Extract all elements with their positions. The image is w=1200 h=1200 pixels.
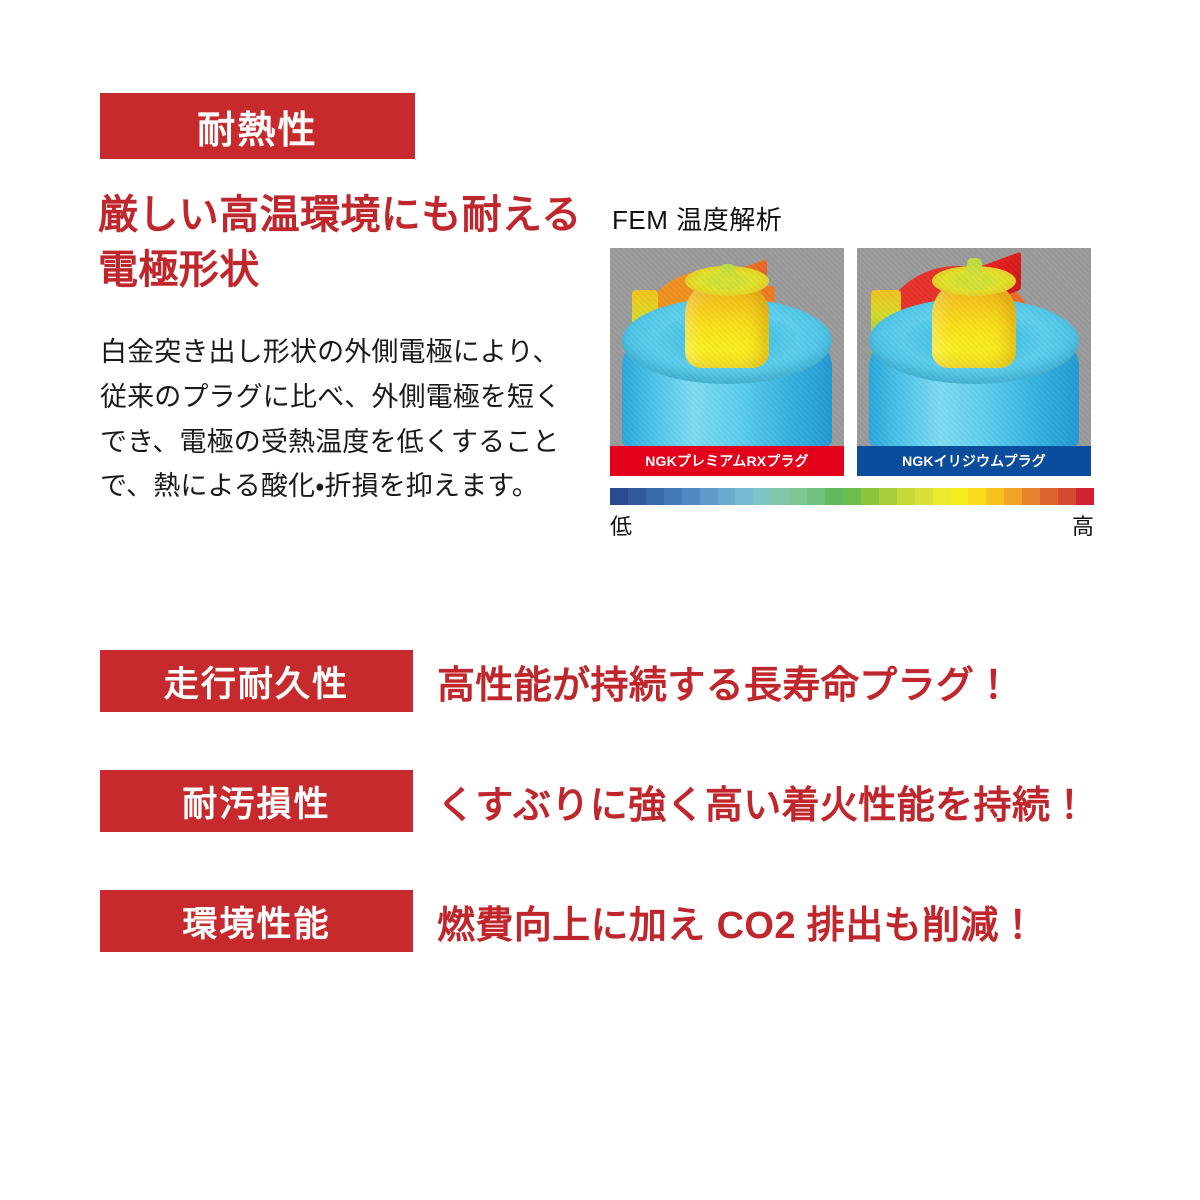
scale-swatch-24 (1040, 488, 1058, 505)
scale-swatch-13 (843, 488, 861, 505)
feature-badge-0: 走行耐久性 (100, 650, 413, 712)
scale-swatch-3 (664, 488, 682, 505)
scale-swatch-12 (825, 488, 843, 505)
feature-text-1: くすぶりに強く高い着火性能を持続！ (437, 774, 1089, 829)
scale-swatch-20 (968, 488, 986, 505)
scale-label-high: 高 (1072, 509, 1094, 541)
fem-caption-iridium: NGKイリジウムプラグ (857, 446, 1091, 476)
scale-swatch-8 (753, 488, 771, 505)
fem-panel-premium-rx: NGKプレミアムRXプラグ (610, 248, 844, 476)
scale-label-low: 低 (610, 509, 632, 541)
headline-line-2: 電極形状 (98, 243, 598, 298)
scale-swatch-4 (682, 488, 700, 505)
feature-row: 走行耐久性高性能が持続する長寿命プラグ！ (100, 650, 1100, 712)
scale-swatch-16 (897, 488, 915, 505)
scale-swatch-18 (933, 488, 951, 505)
fem-panel-group: NGKプレミアムRXプラグ NGKイリジウムプラグ (610, 248, 1094, 476)
fem-thermal-image-iridium (857, 248, 1091, 446)
section-headline: 厳しい高温環境にも耐える 電極形状 (98, 188, 598, 298)
infographic-page: 耐熱性 厳しい高温環境にも耐える 電極形状 白金突き出し形状の外側電極により、従… (0, 0, 1200, 1200)
scale-swatch-0 (610, 488, 628, 505)
feature-list: 走行耐久性高性能が持続する長寿命プラグ！耐汚損性くすぶりに強く高い着火性能を持続… (100, 650, 1100, 1010)
scale-swatch-21 (986, 488, 1004, 505)
temperature-scale-bar (610, 488, 1094, 505)
feature-row: 環境性能燃費向上に加え CO2 排出も削減！ (100, 890, 1100, 952)
scale-swatch-5 (700, 488, 718, 505)
temperature-scale: 低 高 (610, 488, 1094, 541)
fem-analysis-block: FEM 温度解析 NGKプレミアムRXプラグ (610, 200, 1094, 541)
center-electrode-iridium (967, 258, 982, 290)
fem-caption-premium-rx: NGKプレミアムRXプラグ (610, 446, 844, 476)
scale-swatch-26 (1076, 488, 1094, 505)
scale-swatch-11 (807, 488, 825, 505)
scale-swatch-25 (1058, 488, 1076, 505)
feature-badge-1: 耐汚損性 (100, 770, 413, 832)
feature-text-0: 高性能が持続する長寿命プラグ！ (437, 654, 1013, 709)
temperature-scale-labels: 低 高 (610, 509, 1094, 541)
scale-swatch-22 (1004, 488, 1022, 505)
scale-swatch-6 (718, 488, 736, 505)
scale-swatch-19 (951, 488, 969, 505)
feature-row: 耐汚損性くすぶりに強く高い着火性能を持続！ (100, 770, 1100, 832)
scale-swatch-17 (915, 488, 933, 505)
fem-thermal-image-premium-rx (610, 248, 844, 446)
scale-swatch-23 (1022, 488, 1040, 505)
fem-analysis-title: FEM 温度解析 (612, 200, 1094, 237)
scale-swatch-9 (771, 488, 789, 505)
scale-swatch-14 (861, 488, 879, 505)
scale-swatch-1 (628, 488, 646, 505)
center-electrode-premium-rx (720, 264, 735, 290)
fem-panel-iridium: NGKイリジウムプラグ (857, 248, 1091, 476)
scale-swatch-10 (789, 488, 807, 505)
feature-badge-2: 環境性能 (100, 890, 413, 952)
section-body-text: 白金突き出し形状の外側電極により、従来のプラグに比べ、外側電極を短くでき、電極の… (100, 330, 580, 509)
scale-swatch-15 (879, 488, 897, 505)
scale-swatch-7 (735, 488, 753, 505)
headline-line-1: 厳しい高温環境にも耐える (98, 188, 598, 243)
section-badge-heat-resistance: 耐熱性 (100, 93, 415, 159)
scale-swatch-2 (646, 488, 664, 505)
feature-text-2: 燃費向上に加え CO2 排出も削減！ (437, 894, 1037, 949)
